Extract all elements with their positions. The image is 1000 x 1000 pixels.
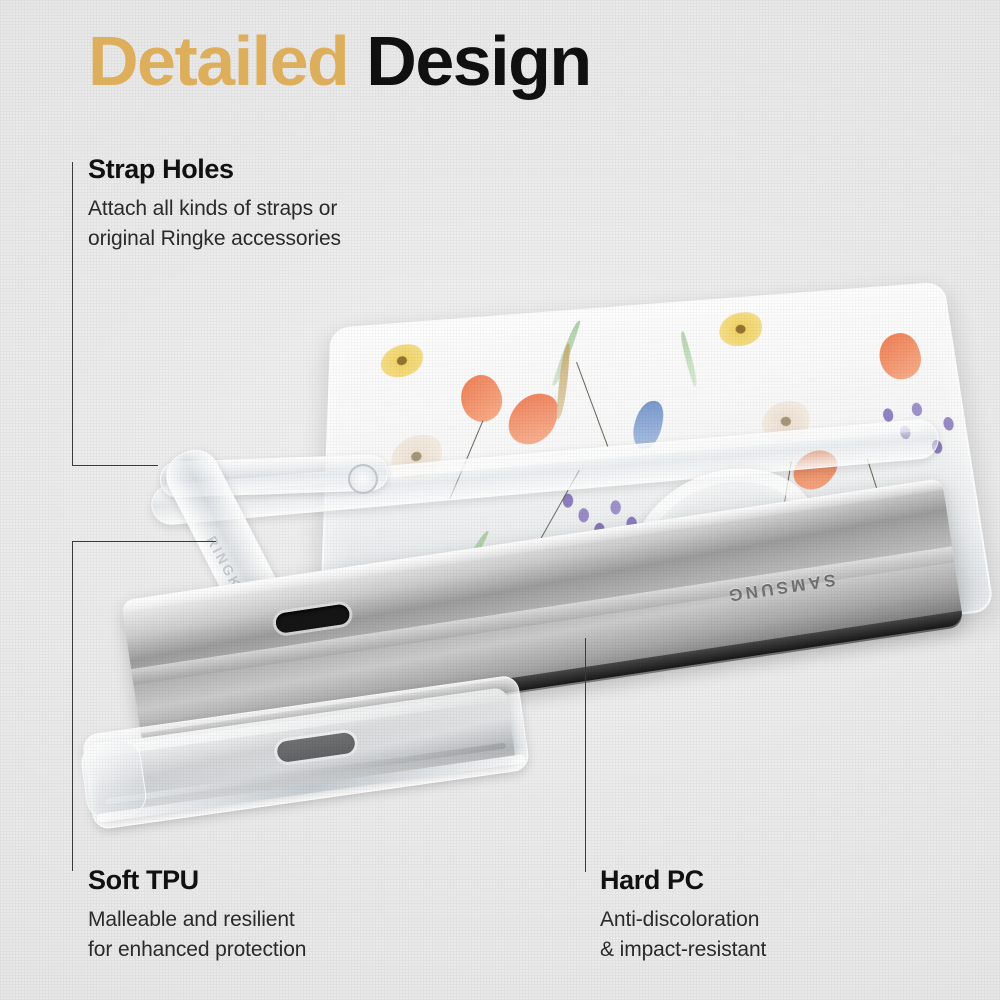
leader-line-strap-vertical — [72, 162, 73, 466]
leader-line-tpu-horizontal — [72, 541, 216, 542]
sprig-lavender — [911, 402, 923, 416]
infographic-page: RINGKE SAMSUNG Detailed Design — [0, 0, 1000, 1000]
sprig-lavender — [610, 500, 621, 515]
callout-line-1: Anti-discoloration — [600, 905, 766, 935]
callout-line-1: Attach all kinds of straps or — [88, 194, 341, 224]
page-title: Detailed Design — [88, 26, 591, 96]
flower-coral — [452, 370, 510, 428]
callout-strap-holes: Strap Holes Attach all kinds of straps o… — [88, 155, 341, 253]
product-photo: RINGKE SAMSUNG — [0, 0, 1000, 1000]
callout-title: Strap Holes — [88, 155, 341, 185]
flower-yellow — [718, 311, 764, 347]
leader-line-tpu-vertical — [72, 541, 73, 871]
callout-hard-pc: Hard PC Anti-discoloration & impact-resi… — [600, 866, 766, 964]
callout-title: Soft TPU — [88, 866, 306, 896]
sprig-lavender — [578, 508, 589, 523]
flower-coral — [503, 389, 564, 449]
flower-coral — [872, 329, 928, 383]
callout-soft-tpu: Soft TPU Malleable and resilient for enh… — [88, 866, 306, 964]
sprig-lavender — [943, 417, 955, 431]
callout-line-2: for enhanced protection — [88, 935, 306, 965]
callout-line-2: original Ringke accessories — [88, 224, 341, 254]
leader-line-strap-horizontal — [72, 465, 158, 466]
fern-tan — [556, 343, 570, 418]
sprig-lavender — [882, 408, 894, 422]
page-title-accent: Detailed — [88, 22, 348, 100]
callout-line-1: Malleable and resilient — [88, 905, 306, 935]
leaf-green — [677, 331, 701, 387]
callout-line-2: & impact-resistant — [600, 935, 766, 965]
flower-yellow — [381, 343, 423, 378]
callout-title: Hard PC — [600, 866, 766, 896]
page-title-main: Design — [366, 22, 590, 100]
leader-line-pc-vertical — [585, 638, 586, 872]
twig — [576, 362, 609, 448]
